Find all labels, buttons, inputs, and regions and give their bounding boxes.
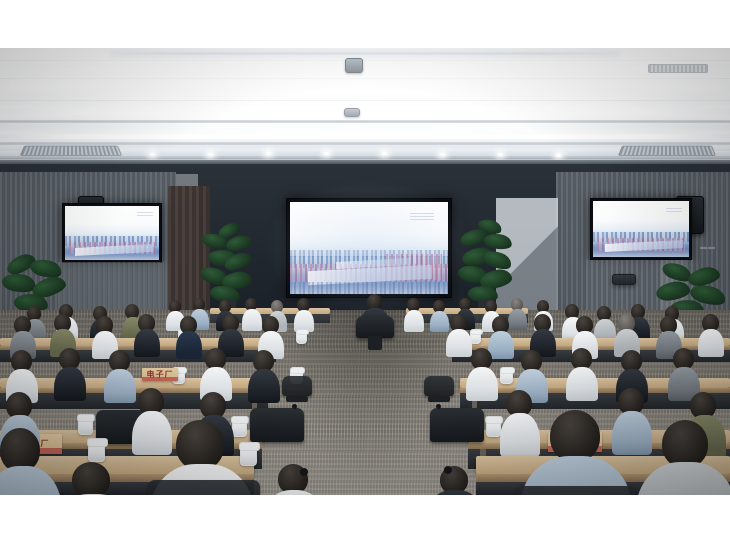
chair bbox=[148, 480, 260, 495]
ceiling-speaker-icon bbox=[344, 108, 360, 117]
downlight-icon bbox=[498, 153, 503, 156]
paper-cup bbox=[296, 330, 307, 344]
ceiling-speaker-icon bbox=[345, 58, 363, 73]
paper-cup bbox=[78, 416, 93, 435]
ceiling-led-strip bbox=[0, 108, 730, 115]
paper-cup bbox=[500, 368, 513, 384]
chair-caster bbox=[436, 404, 441, 409]
ceiling-glow bbox=[0, 48, 730, 138]
chair bbox=[356, 316, 394, 338]
chair-caster bbox=[444, 466, 452, 474]
chair-base bbox=[368, 336, 382, 350]
ceiling-led-strip bbox=[0, 134, 730, 139]
photo-frame: ▬▬ bbox=[0, 0, 730, 548]
main-led-wall bbox=[286, 198, 452, 298]
paper-cup bbox=[240, 444, 257, 466]
downlight-icon bbox=[556, 154, 561, 157]
ceiling-led-strip bbox=[112, 52, 618, 55]
downlight-icon bbox=[266, 152, 271, 155]
ceiling-seam bbox=[0, 78, 730, 79]
downlight-icon bbox=[150, 153, 155, 156]
chair bbox=[250, 408, 304, 442]
chair bbox=[430, 408, 484, 442]
downlight-icon bbox=[382, 152, 387, 155]
chair bbox=[424, 376, 454, 396]
ceiling-rail bbox=[0, 142, 730, 145]
side-display-right bbox=[590, 198, 692, 260]
downlight-icon bbox=[440, 153, 445, 156]
chair-caster bbox=[300, 468, 308, 476]
downlight-icon bbox=[324, 152, 329, 155]
ceiling-rail bbox=[0, 120, 730, 123]
name-plate: 电子厂 bbox=[142, 368, 178, 381]
air-vent-icon bbox=[618, 146, 716, 156]
chair-base bbox=[428, 396, 450, 402]
chair-caster bbox=[292, 404, 297, 409]
chair-base bbox=[286, 396, 308, 402]
ceiling-seam bbox=[0, 60, 730, 61]
carpet-tile bbox=[372, 348, 430, 388]
downlight-icon bbox=[208, 153, 213, 156]
conference-room-photograph: ▬▬ bbox=[0, 48, 730, 495]
paper-cup bbox=[88, 440, 105, 462]
chair bbox=[516, 486, 636, 495]
wall-speaker-lower-right bbox=[612, 274, 636, 285]
ceiling-led-strip bbox=[14, 82, 716, 87]
wall-sign-text: ▬▬ bbox=[700, 244, 716, 251]
ceiling-seam bbox=[0, 100, 730, 101]
paper-cup bbox=[232, 418, 247, 437]
chair bbox=[282, 376, 312, 396]
paper-cup bbox=[486, 418, 501, 437]
screen-watermark bbox=[410, 213, 434, 220]
side-display-left bbox=[62, 203, 162, 263]
air-vent-icon bbox=[648, 64, 708, 73]
air-vent-icon bbox=[20, 146, 123, 156]
ceiling-led-strip bbox=[60, 64, 670, 68]
